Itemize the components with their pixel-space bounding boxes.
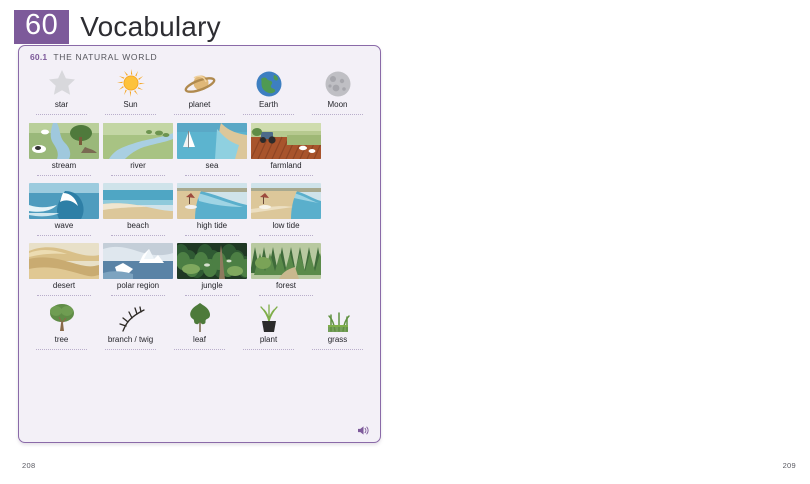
writing-line[interactable] bbox=[243, 349, 294, 350]
writing-line[interactable] bbox=[185, 175, 240, 176]
sun-icon bbox=[116, 64, 146, 98]
leaf-icon bbox=[185, 299, 215, 333]
stream-scene bbox=[29, 119, 99, 159]
star-icon bbox=[47, 64, 77, 98]
word-card[interactable]: beach bbox=[101, 179, 175, 236]
word-label: desert bbox=[53, 282, 75, 290]
spacer bbox=[323, 119, 372, 176]
word-label: jungle bbox=[201, 282, 222, 290]
writing-line[interactable] bbox=[111, 235, 166, 236]
word-card[interactable]: jungle bbox=[175, 239, 249, 296]
word-card[interactable]: Moon bbox=[303, 64, 372, 115]
word-label: beach bbox=[127, 222, 149, 230]
word-label: grass bbox=[328, 336, 348, 344]
grass-icon bbox=[323, 299, 353, 333]
word-card[interactable]: planet bbox=[165, 64, 234, 115]
writing-line[interactable] bbox=[259, 235, 314, 236]
word-label: forest bbox=[276, 282, 296, 290]
word-card[interactable]: leaf bbox=[165, 299, 234, 350]
river-scene bbox=[103, 119, 173, 159]
page-number-left: 208 bbox=[22, 461, 35, 470]
writing-line[interactable] bbox=[185, 295, 240, 296]
page-title: Vocabulary bbox=[80, 13, 221, 41]
word-card[interactable]: high tide bbox=[175, 179, 249, 236]
word-label: farmland bbox=[270, 162, 301, 170]
jungle-scene bbox=[177, 239, 247, 279]
word-card[interactable]: plant bbox=[234, 299, 303, 350]
word-label: polar region bbox=[117, 282, 159, 290]
word-row: starSunplanetEarthMoon bbox=[27, 64, 372, 119]
word-label: planet bbox=[189, 101, 211, 109]
word-card[interactable]: grass bbox=[303, 299, 372, 350]
writing-line[interactable] bbox=[111, 175, 166, 176]
writing-line[interactable] bbox=[36, 114, 87, 115]
chapter-header: 60 Vocabulary bbox=[14, 8, 221, 46]
right-page: 60.2 ANIMALS birdeagleseagullowlparrotin… bbox=[405, 0, 810, 484]
writing-line[interactable] bbox=[174, 114, 225, 115]
word-label: high tide bbox=[197, 222, 227, 230]
potted-plant-icon bbox=[255, 299, 283, 333]
word-card[interactable]: river bbox=[101, 119, 175, 176]
word-card[interactable]: farmland bbox=[249, 119, 323, 176]
word-card[interactable]: tree bbox=[27, 299, 96, 350]
writing-line[interactable] bbox=[111, 295, 166, 296]
farmland-scene bbox=[251, 119, 321, 159]
writing-line[interactable] bbox=[37, 235, 92, 236]
word-label: river bbox=[130, 162, 146, 170]
word-label: Earth bbox=[259, 101, 278, 109]
beach-scene bbox=[103, 179, 173, 219]
word-card[interactable]: branch / twig bbox=[96, 299, 165, 350]
moon-icon bbox=[324, 64, 352, 98]
writing-line[interactable] bbox=[37, 175, 92, 176]
high-tide-scene bbox=[177, 179, 247, 219]
writing-line[interactable] bbox=[105, 349, 156, 350]
word-card-grid: starSunplanetEarthMoonstreamriverseafarm… bbox=[19, 62, 380, 354]
writing-line[interactable] bbox=[174, 349, 225, 350]
writing-line[interactable] bbox=[312, 114, 363, 115]
low-tide-scene bbox=[251, 179, 321, 219]
speaker-icon[interactable] bbox=[357, 425, 370, 436]
book-spread: 60 Vocabulary 60.1 THE NATURAL WORLD sta… bbox=[0, 0, 810, 484]
word-card[interactable]: low tide bbox=[249, 179, 323, 236]
word-card[interactable]: star bbox=[27, 64, 96, 115]
writing-line[interactable] bbox=[105, 114, 156, 115]
word-card[interactable]: stream bbox=[27, 119, 101, 176]
word-card[interactable]: sea bbox=[175, 119, 249, 176]
left-page: 60 Vocabulary 60.1 THE NATURAL WORLD sta… bbox=[0, 0, 405, 484]
writing-line[interactable] bbox=[37, 295, 92, 296]
desert-scene bbox=[29, 239, 99, 279]
word-card[interactable]: Earth bbox=[234, 64, 303, 115]
earth-icon bbox=[255, 64, 283, 98]
word-row: treebranch / twigleafplantgrass bbox=[27, 299, 372, 354]
branch-twig-icon bbox=[114, 299, 148, 333]
word-label: star bbox=[55, 101, 68, 109]
word-label: branch / twig bbox=[108, 336, 153, 344]
word-card[interactable]: forest bbox=[249, 239, 323, 296]
spacer bbox=[323, 179, 372, 236]
word-card[interactable]: Sun bbox=[96, 64, 165, 115]
planet-icon bbox=[184, 64, 216, 98]
tree-icon bbox=[45, 299, 79, 333]
word-label: leaf bbox=[193, 336, 206, 344]
chapter-number-badge: 60 bbox=[14, 10, 69, 44]
word-row: streamriverseafarmland bbox=[27, 119, 372, 179]
word-row: wavebeachhigh tidelow tide bbox=[27, 179, 372, 239]
forest-scene bbox=[251, 239, 321, 279]
writing-line[interactable] bbox=[36, 349, 87, 350]
word-label: tree bbox=[55, 336, 69, 344]
page-number-right: 209 bbox=[783, 461, 796, 470]
panel-header: 60.1 THE NATURAL WORLD bbox=[19, 46, 380, 62]
writing-line[interactable] bbox=[259, 295, 314, 296]
panel-label: THE NATURAL WORLD bbox=[53, 52, 157, 62]
word-label: Moon bbox=[327, 101, 347, 109]
word-card[interactable]: desert bbox=[27, 239, 101, 296]
writing-line[interactable] bbox=[259, 175, 314, 176]
natural-world-panel: 60.1 THE NATURAL WORLD starSunplanetEart… bbox=[18, 45, 381, 443]
panel-number: 60.1 bbox=[30, 52, 47, 62]
word-label: stream bbox=[52, 162, 76, 170]
word-label: plant bbox=[260, 336, 277, 344]
word-label: wave bbox=[55, 222, 74, 230]
writing-line[interactable] bbox=[312, 349, 363, 350]
spacer bbox=[323, 239, 372, 296]
word-row: desertpolar regionjungleforest bbox=[27, 239, 372, 299]
word-label: sea bbox=[206, 162, 219, 170]
wave-scene bbox=[29, 179, 99, 219]
writing-line[interactable] bbox=[185, 235, 240, 236]
word-label: low tide bbox=[272, 222, 299, 230]
word-card[interactable]: wave bbox=[27, 179, 101, 236]
word-label: Sun bbox=[123, 101, 137, 109]
writing-line[interactable] bbox=[243, 114, 294, 115]
polar-region-scene bbox=[103, 239, 173, 279]
word-card[interactable]: polar region bbox=[101, 239, 175, 296]
sea-scene bbox=[177, 119, 247, 159]
